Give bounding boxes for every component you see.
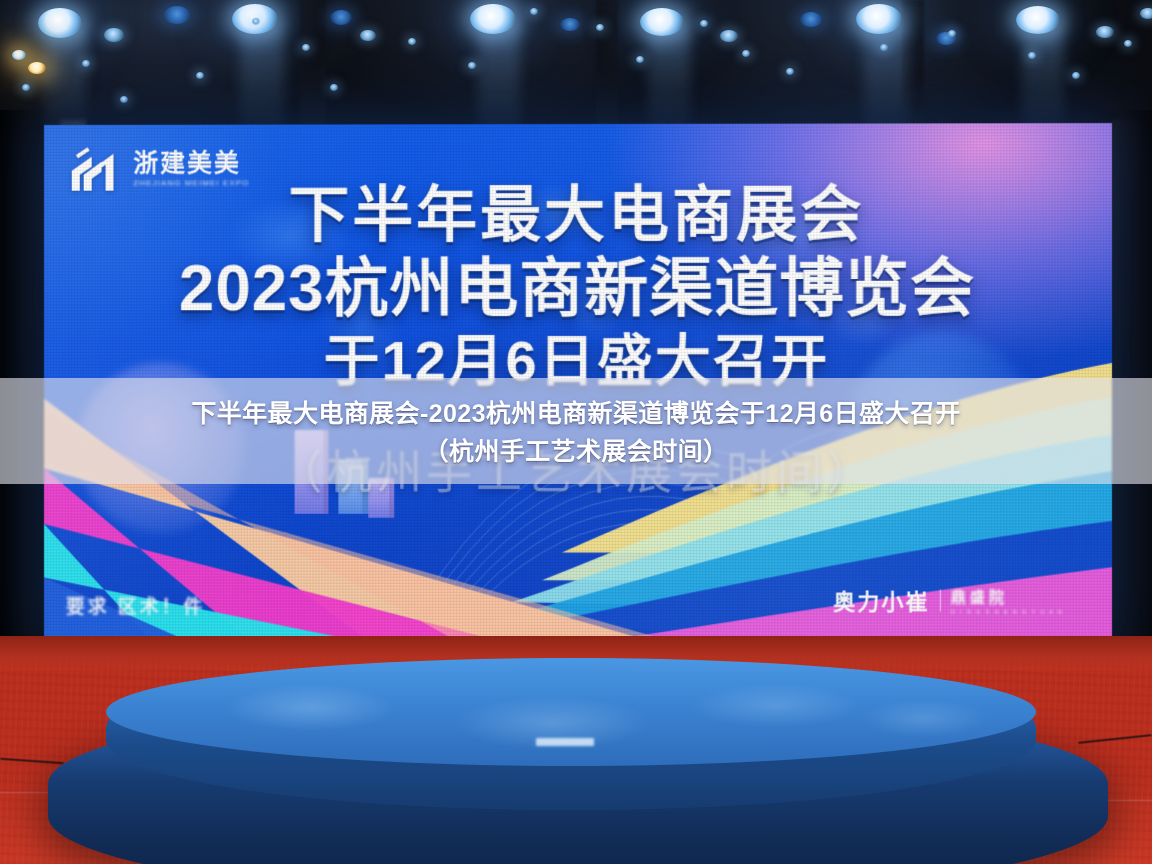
- stage-light-cool: [470, 4, 516, 34]
- stage-light-blue: [330, 10, 352, 25]
- stage-light-blue: [800, 12, 822, 27]
- stage-light-point: [252, 18, 260, 25]
- stage-light-point: [636, 56, 644, 63]
- screen-headline: 下半年最大电商展会 2023杭州电商新渠道博览会 于12月6日盛大召开: [44, 183, 1112, 390]
- stage-photo: 浙建美美 ZHEJIANG MEIMEI EXPO 下半年最大电商展会 2023…: [0, 0, 1152, 864]
- stage-light-point: [948, 30, 956, 37]
- platform-label-plate: [536, 738, 594, 746]
- stage-light-point: [596, 24, 604, 31]
- mark-right-secondary-cn: 鼎盛院: [951, 586, 1064, 607]
- stage-light-cool: [1016, 6, 1060, 34]
- caption-line-2: （杭州手工艺术展会时间）: [424, 432, 729, 468]
- stage-light-dim: [720, 30, 738, 42]
- stage-light-point: [120, 96, 128, 103]
- stage-light-cool: [856, 4, 902, 34]
- stage-light-point: [1072, 72, 1080, 79]
- stage-light-point: [1028, 52, 1036, 59]
- stage-light-point: [302, 44, 310, 51]
- stage-light-point: [408, 38, 416, 45]
- stage-light-point: [700, 20, 708, 27]
- stage-platform-upper-surface: [106, 658, 1036, 766]
- stage-light-point: [468, 62, 476, 69]
- stage-light-point: [880, 44, 888, 51]
- stage-light-point: [786, 68, 794, 75]
- screen-mark-left: 要求 区术！件: [66, 592, 205, 619]
- logo-name-cn: 浙建美美: [133, 152, 249, 177]
- stage-light-point: [742, 50, 750, 57]
- mark-divider: [940, 590, 941, 612]
- stage-light-point: [530, 8, 538, 15]
- stage-light-dim: [1096, 26, 1114, 38]
- stage-light-dim: [360, 30, 376, 41]
- stage-light-point: [330, 84, 338, 91]
- headline-line-1: 下半年最大电商展会: [44, 183, 1112, 248]
- caption-overlay: 下半年最大电商展会-2023杭州电商新渠道博览会于12月6日盛大召开 （杭州手工…: [0, 378, 1152, 484]
- stage-light-point: [196, 72, 204, 79]
- stage-light-warm2: [28, 62, 46, 74]
- stage-light-warm: [12, 50, 26, 60]
- headline-line-2: 2023杭州电商新渠道博览会: [44, 255, 1112, 322]
- stage-light-blue: [560, 18, 580, 31]
- stage-light-point: [1124, 40, 1132, 47]
- caption-line-1: 下半年最大电商展会-2023杭州电商新渠道博览会于12月6日盛大召开: [191, 394, 960, 430]
- stage-light-point: [82, 60, 90, 67]
- stage-light-dim: [104, 28, 124, 42]
- stage-light-point: [22, 84, 30, 91]
- mark-right-primary: 奥力小崔: [833, 584, 929, 616]
- screen-mark-right: 奥力小崔 鼎盛院 D I N G S H E N G Y U A N: [833, 584, 1063, 616]
- stage-light-cool: [38, 8, 82, 38]
- stage-light-cool: [640, 8, 684, 36]
- stage-light-dim: [1140, 8, 1152, 19]
- mark-right-secondary-en: D I N G S H E N G Y U A N: [951, 609, 1064, 615]
- stage-light-blue: [164, 6, 190, 24]
